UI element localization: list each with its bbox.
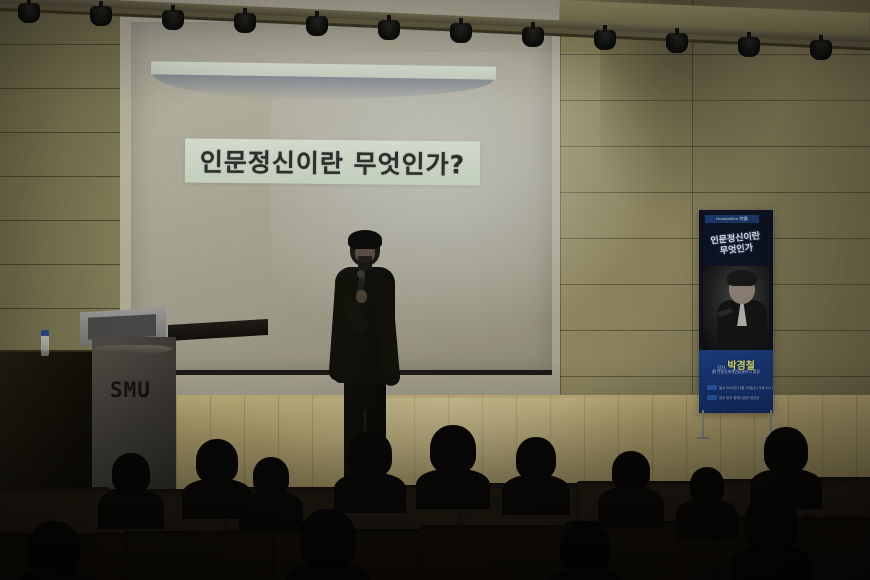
banner-stand-right [770,410,772,438]
stage-rib [321,516,322,580]
stage-rib [22,516,23,580]
stage-rib [423,516,424,580]
stage-spotlight [306,16,328,36]
stage-rib [204,516,205,580]
stage-rib [394,516,395,580]
stage-rib [445,516,446,580]
stage-rib [774,516,775,580]
stage-rib [781,516,782,580]
stage-rib [387,516,388,580]
banner-affiliation: 前 안동신세계연합클리닉 원장 [699,370,773,375]
stage-rib [584,516,585,580]
stage-rib [810,516,811,580]
stage-rib [745,516,746,580]
stage-rib [854,516,855,580]
stage-rib [591,516,592,580]
lectern-podium [92,337,176,520]
slide-title-box: 인문정신이란 무엇인가? [185,138,480,185]
stage-rib [635,516,636,580]
stage-rib [416,516,417,580]
floor-reflection [240,398,660,518]
stage-rib [270,516,271,580]
banner-chip-place [707,395,717,400]
stage-rib [664,516,665,580]
stage-rib [248,516,249,580]
stage-rib [475,516,476,580]
banner-header-strip: Humanities 特講 [705,215,759,223]
stage-rib [409,516,410,580]
stage-rib [752,516,753,580]
stage-rib [767,516,768,580]
stage-rib [102,516,103,580]
banner-speaker-photo [703,266,769,350]
presenter-shoe-left [340,484,364,495]
stage-rib [139,516,140,580]
stage-rib [183,516,184,580]
stage-rib [234,516,235,580]
stage-rib [861,516,862,580]
stage-rib [847,516,848,580]
banner-info-text-2: 장소 본교 밀레니엄관 대강당 [719,395,759,400]
stage-rib [606,516,607,580]
stage-rib [161,516,162,580]
stage-rib [131,516,132,580]
stage-rib [672,516,673,580]
banner-title-line2: 무엇인가 [720,243,754,257]
stage-spotlight [450,23,472,43]
stage-rib [277,516,278,580]
stage-rib [372,516,373,580]
stage-rib [460,516,461,580]
banner-title-block: 인문정신이란 무엇인가 [702,225,769,266]
stage-rib [453,516,454,580]
stage-rib [380,516,381,580]
stage-rib [15,516,16,580]
stage-rib [548,516,549,580]
stage-rib [241,516,242,580]
banner-header-text: Humanities 特講 [716,216,748,222]
stage-rib [29,516,30,580]
stage-rib [212,516,213,580]
presenter-leg-gap [364,410,366,488]
stage-rib [730,516,731,580]
stage-rib [219,516,220,580]
stage-rib [431,516,432,580]
stage-rib [657,516,658,580]
stage-rib [402,516,403,580]
stage-rib [832,516,833,580]
side-table [0,352,92,520]
stage-spotlight [18,3,40,23]
stage-rib [577,516,578,580]
stage-rib [292,516,293,580]
stage-rib [44,516,45,580]
stage-rib [73,516,74,580]
auditorium-photo: 인문정신이란 무엇인가? SMU [0,0,870,580]
stage-rib [518,516,519,580]
banner-info-text-1: 일시 2013년 11월 20일(수) 오후 4시 30분 [719,385,773,390]
stage-rib [343,516,344,580]
stage-rib [329,516,330,580]
stage-rib [467,516,468,580]
stage-rib [701,516,702,580]
stage-rib [117,516,118,580]
stage-rib [825,516,826,580]
presenter-beard [358,256,372,265]
stage-rib [759,516,760,580]
banner-photo-hair [727,270,757,286]
podium-monitor-screen [88,314,156,340]
stage-rib [504,516,505,580]
banner-chip-date [707,385,717,390]
stage-rib [80,516,81,580]
banner-info-row-1: 일시 2013년 11월 20일(수) 오후 4시 30분 [707,384,765,390]
stage-rib [95,516,96,580]
stage-spotlight [810,40,832,60]
stage-rib [358,516,359,580]
stage-rib [840,516,841,580]
stage-rib [190,516,191,580]
stage-rib [569,516,570,580]
microphone-head-icon [357,270,365,278]
stage-rib [438,516,439,580]
stage-rib [737,516,738,580]
presenter-hand [356,290,367,303]
banner-foot-left [697,437,709,439]
bottle-cap-icon [41,330,49,336]
stage-rib [226,516,227,580]
stage-rib [613,516,614,580]
podium-logo-text: SMU [110,378,151,402]
banner-info-row-2: 장소 본교 밀레니엄관 대강당 [707,394,765,400]
stage-rib [796,516,797,580]
stage-rib [88,516,89,580]
banner-stand-left [702,410,704,438]
stage-rib [788,516,789,580]
stage-rib [803,516,804,580]
stage-rib [540,516,541,580]
stage-rib [168,516,169,580]
podium-lip [95,345,173,353]
stage-rib [818,516,819,580]
stage-rib [263,516,264,580]
stage-spotlight [162,10,184,30]
stage-rib [650,516,651,580]
stage-rib [533,516,534,580]
wall-vertical-seam [560,0,561,430]
stage-rib [197,516,198,580]
stage-spotlight [666,33,688,53]
stage-rib [694,516,695,580]
stage-rib [511,516,512,580]
stage-rib [715,516,716,580]
presenter-shoe-right [364,482,390,494]
stage-rib [336,516,337,580]
rollup-banner: Humanities 特講 인문정신이란 무엇인가 강사박경철 前 안동신세계연… [699,210,773,413]
stage-rib [628,516,629,580]
stage-rib [124,516,125,580]
stage-rib [599,516,600,580]
slide-title-text: 인문정신이란 무엇인가? [200,143,466,182]
stage-rib [37,516,38,580]
stage-rib [307,516,308,580]
presenter-hair [348,230,382,249]
stage-rib [562,516,563,580]
stage-rib [58,516,59,580]
stage-rib [0,516,1,580]
stage-rib [256,516,257,580]
stage-rib [51,516,52,580]
banner-foot-right [765,437,777,439]
stage-rib [175,516,176,580]
stage-rib [686,516,687,580]
stage-rib [299,516,300,580]
stage-rib [555,516,556,580]
stage-rib [153,516,154,580]
stage-rib [314,516,315,580]
stage-spotlight [522,27,544,47]
slide-wave-graphic [153,74,493,101]
stage-rib [621,516,622,580]
stage-rib [285,516,286,580]
presenter [330,232,400,504]
stage-rib [365,516,366,580]
stage-front-panel [0,516,870,580]
stage-spotlight [90,6,112,26]
stage-rib [642,516,643,580]
stage-spotlight [234,13,256,33]
stage-rib [679,516,680,580]
stage-rib [146,516,147,580]
stage-rib [482,516,483,580]
stage-rib [7,516,8,580]
stage-rib [110,516,111,580]
stage-rib [489,516,490,580]
stage-rib [723,516,724,580]
stage-rib [708,516,709,580]
stage-rib [350,516,351,580]
stage-spotlight [378,20,400,40]
stage-rib [66,516,67,580]
stage-spotlight [594,30,616,50]
stage-rib [526,516,527,580]
stage-spotlight [738,37,760,57]
stage-rib [496,516,497,580]
